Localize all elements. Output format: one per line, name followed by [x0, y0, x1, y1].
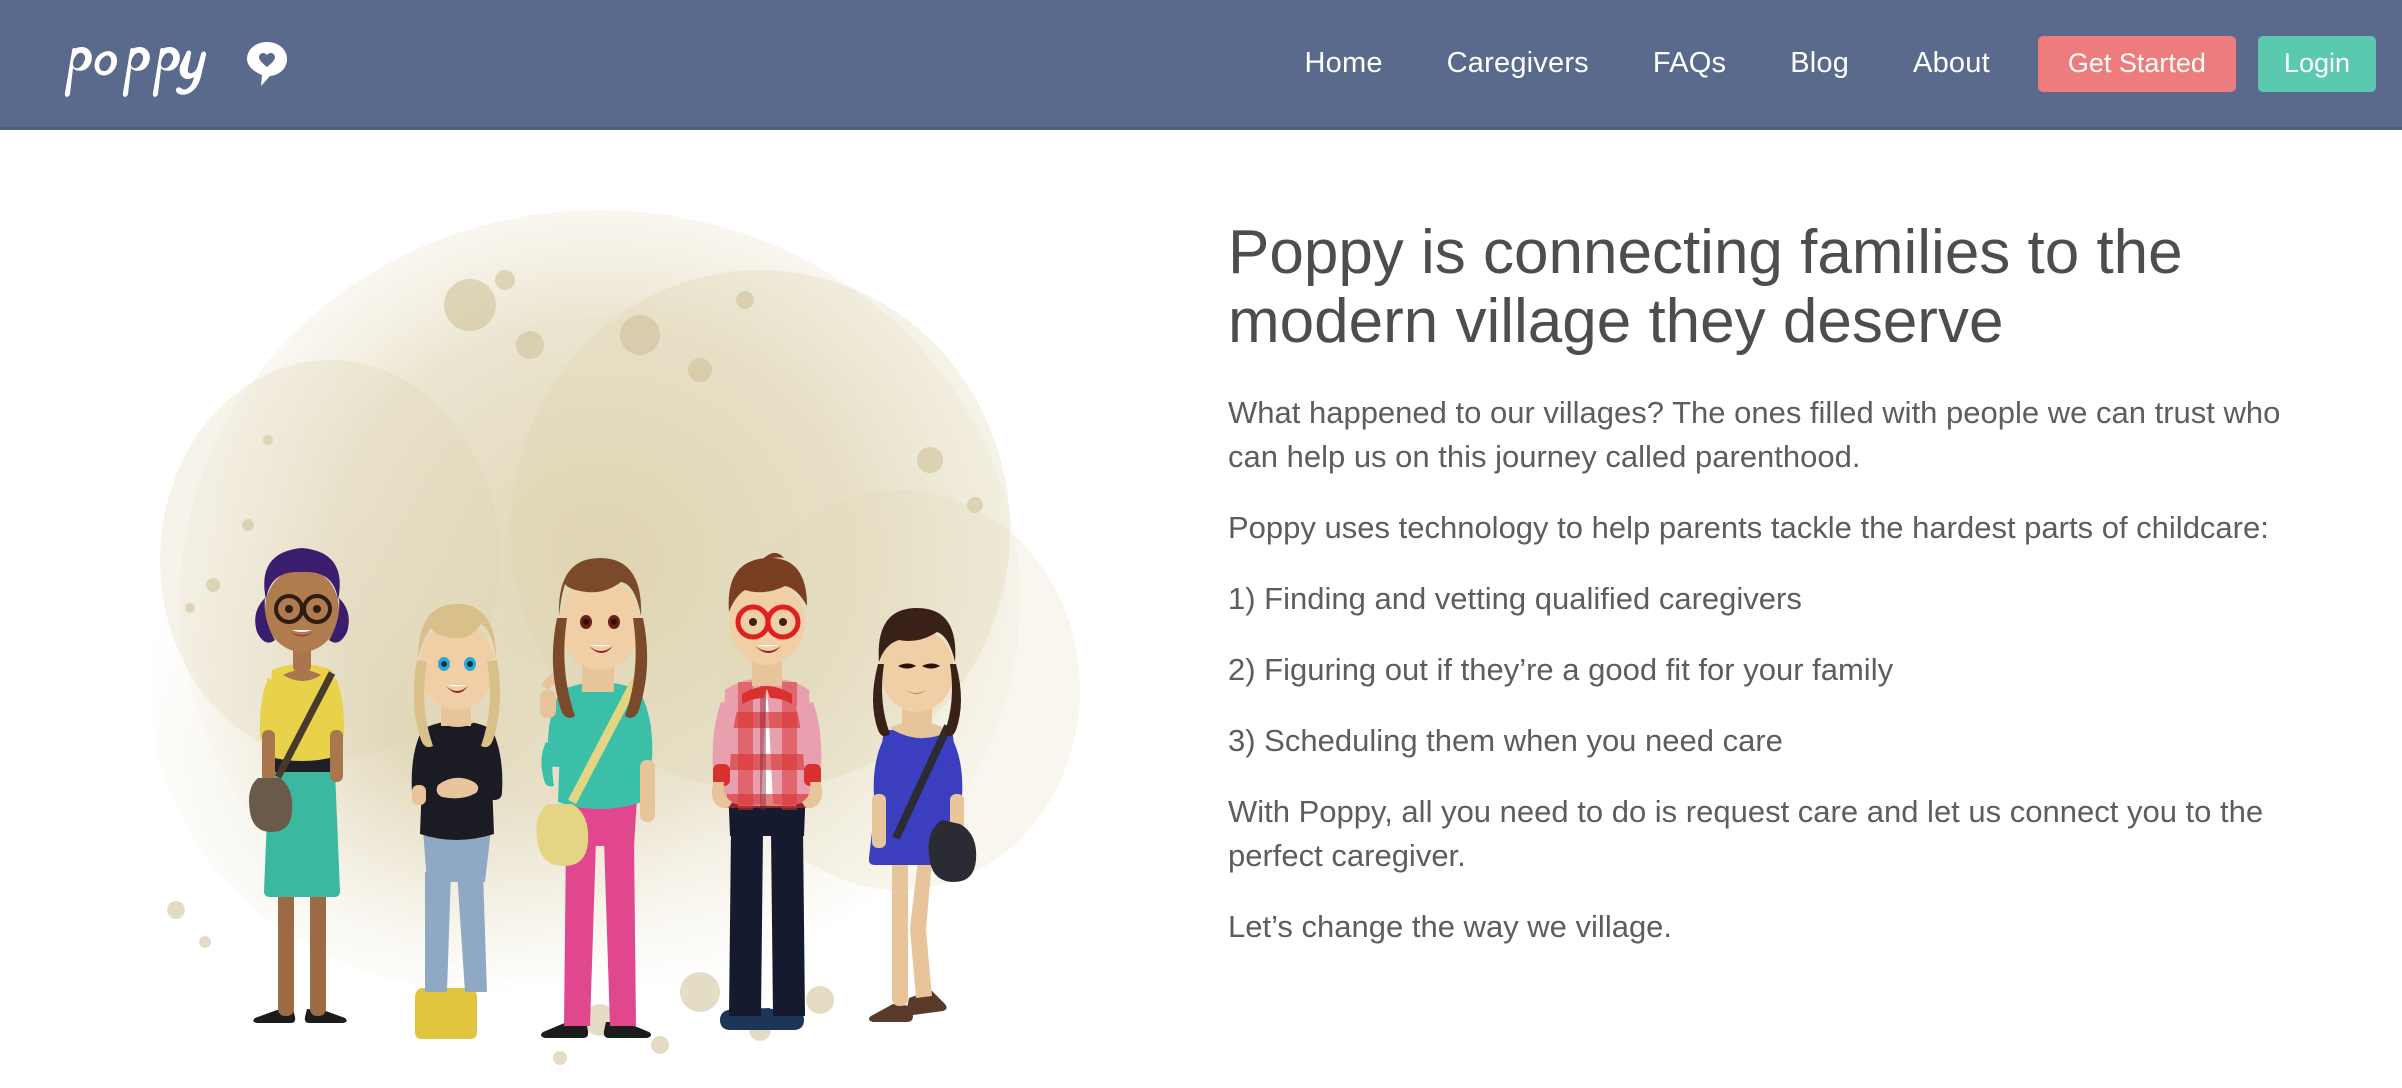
poppy-wordmark-icon [62, 31, 240, 97]
hero-paragraph-intro: What happened to our villages? The ones … [1228, 391, 2288, 479]
hero-paragraph-closing: Let’s change the way we village. [1228, 905, 2288, 949]
hero-illustration [0, 130, 1220, 1088]
hero-list-item-2: 2) Figuring out if they’re a good fit fo… [1228, 648, 2288, 692]
brand-logo[interactable] [62, 31, 290, 97]
get-started-button[interactable]: Get Started [2038, 36, 2236, 92]
nav-link-faqs[interactable]: FAQs [1621, 47, 1758, 80]
login-button[interactable]: Login [2258, 36, 2376, 92]
nav-link-about[interactable]: About [1881, 47, 2022, 80]
five-people-village-illustration [0, 130, 1220, 1088]
hero-paragraph-request: With Poppy, all you need to do is reques… [1228, 790, 2288, 878]
nav-link-blog[interactable]: Blog [1758, 47, 1881, 80]
hero-list-item-3: 3) Scheduling them when you need care [1228, 719, 2288, 763]
nav-link-home[interactable]: Home [1272, 47, 1414, 80]
main-navigation: Home Caregivers FAQs Blog About Get Star… [1272, 36, 2384, 92]
site-header: Home Caregivers FAQs Blog About Get Star… [0, 0, 2402, 130]
heart-speech-bubble-icon [244, 40, 290, 88]
hero-list-item-1: 1) Finding and vetting qualified caregiv… [1228, 577, 2288, 621]
hero-copy: Poppy is connecting families to the mode… [1220, 130, 2402, 976]
page-title: Poppy is connecting families to the mode… [1228, 218, 2298, 357]
hero-section: Poppy is connecting families to the mode… [0, 130, 2402, 1088]
hero-paragraph-technology: Poppy uses technology to help parents ta… [1228, 506, 2288, 550]
nav-link-caregivers[interactable]: Caregivers [1415, 47, 1621, 80]
